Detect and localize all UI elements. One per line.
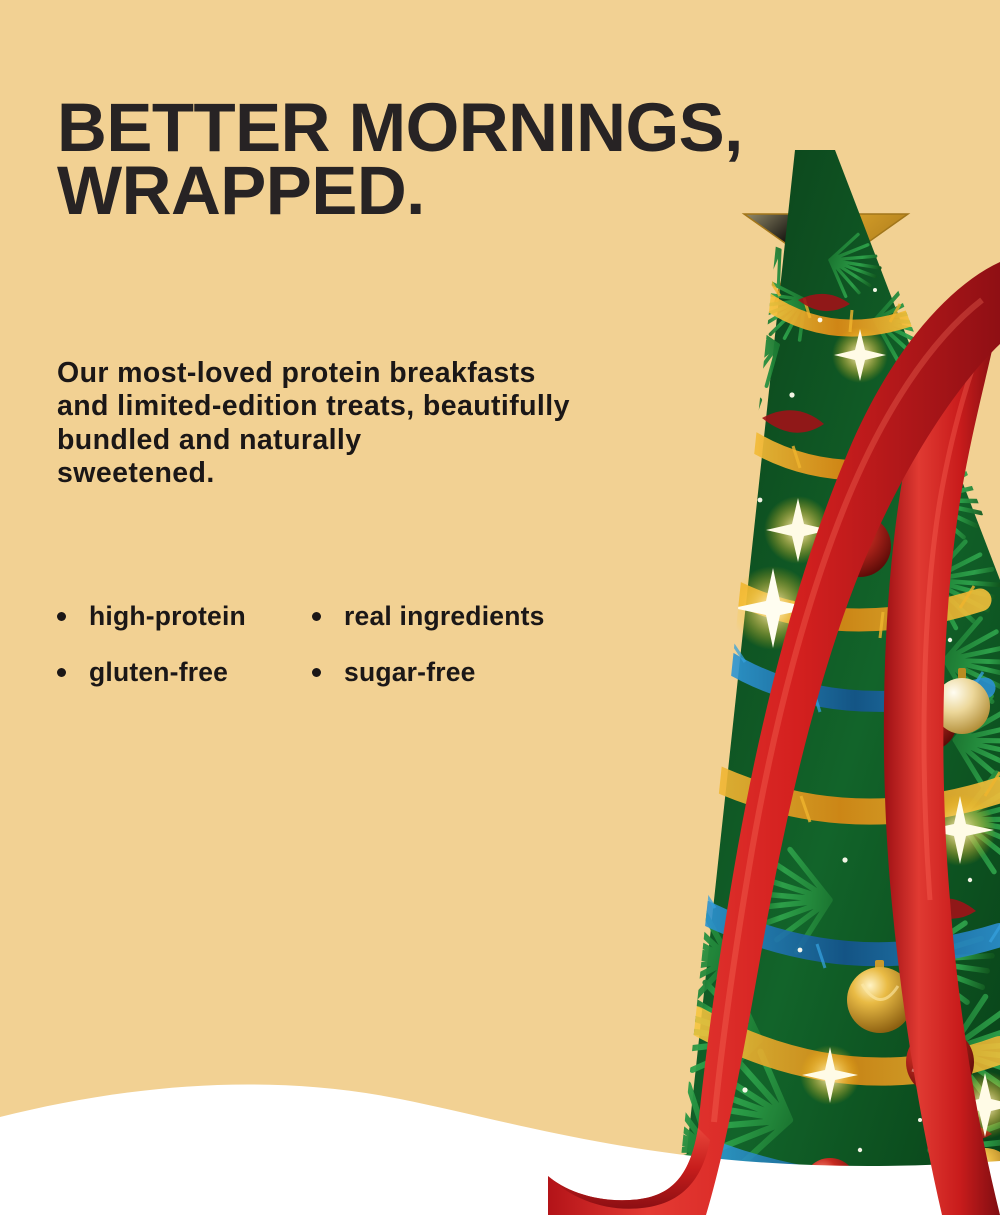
feature-list: high-protein real ingredients gluten-fre…: [57, 588, 677, 700]
list-item: high-protein: [57, 588, 312, 644]
list-item: gluten-free: [57, 644, 312, 700]
bullet-dot-icon: [312, 668, 321, 677]
list-item-label: real ingredients: [344, 601, 545, 632]
list-item: real ingredients: [312, 588, 612, 644]
page-title: BETTER MORNINGS, WRAPPED.: [57, 96, 997, 223]
bullet-dot-icon: [57, 668, 66, 677]
list-item-label: sugar-free: [344, 657, 476, 688]
bullet-dot-icon: [57, 612, 66, 621]
promo-banner: BETTER MORNINGS, WRAPPED. Our most-loved…: [0, 0, 1000, 1215]
bullet-dot-icon: [312, 612, 321, 621]
list-item-label: high-protein: [89, 601, 246, 632]
list-item-label: gluten-free: [89, 657, 228, 688]
list-item: sugar-free: [312, 644, 612, 700]
body-paragraph: Our most-loved protein breakfasts and li…: [57, 357, 757, 490]
